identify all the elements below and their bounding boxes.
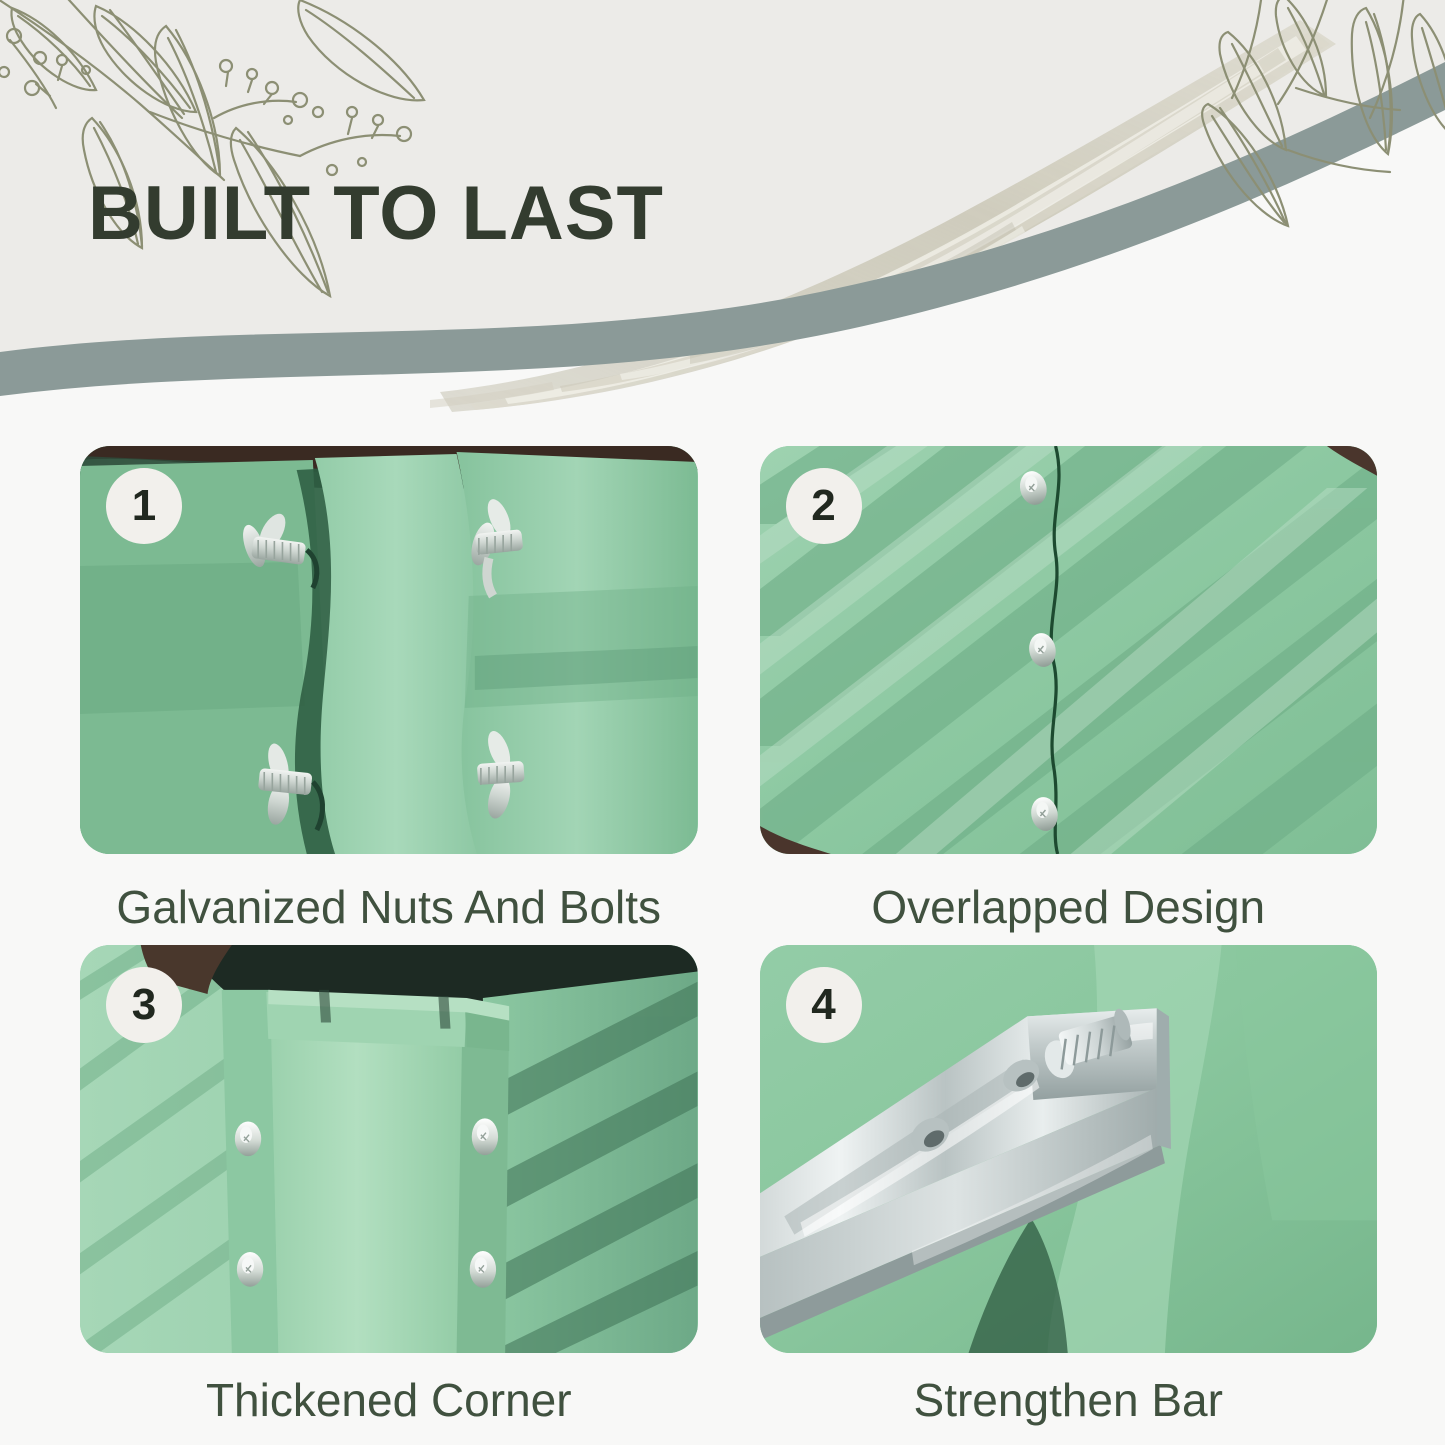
feature-image-2[interactable]: 2: [760, 446, 1378, 854]
rivet-icon: [470, 1251, 496, 1288]
feature-card-3[interactable]: 3 Thickened Corner: [80, 945, 698, 1427]
corner-post-right-return: [457, 1004, 510, 1353]
rivet-icon: [472, 1118, 498, 1155]
step-badge-3: 3: [106, 967, 182, 1043]
step-badge-4: 4: [786, 967, 862, 1043]
feature-card-1[interactable]: 1 Galvanized Nuts And Bolts: [80, 446, 698, 933]
feature-image-4[interactable]: 4: [760, 945, 1378, 1353]
header-banner: BUILT TO LAST: [0, 0, 1445, 420]
feature-caption-2: Overlapped Design: [760, 882, 1378, 933]
feature-image-1[interactable]: 1: [80, 446, 698, 854]
feature-image-3[interactable]: 3: [80, 945, 698, 1353]
feature-card-2[interactable]: 2 Overlapped Design: [760, 446, 1378, 933]
feature-caption-4: Strengthen Bar: [760, 1375, 1378, 1426]
step-badge-1: 1: [106, 468, 182, 544]
feature-card-4[interactable]: 4 Strengthen Bar: [760, 945, 1378, 1427]
page-title: BUILT TO LAST: [88, 176, 664, 252]
feature-caption-1: Galvanized Nuts And Bolts: [80, 882, 698, 933]
feature-grid: 1 Galvanized Nuts And Bolts: [0, 420, 1445, 1445]
rivet-icon: [237, 1252, 263, 1287]
rivet-icon: [235, 1121, 261, 1156]
step-badge-2: 2: [786, 468, 862, 544]
infographic-page: BUILT TO LAST: [0, 0, 1445, 1445]
feature-caption-3: Thickened Corner: [80, 1375, 698, 1426]
corner-post-front-face: [270, 996, 462, 1353]
